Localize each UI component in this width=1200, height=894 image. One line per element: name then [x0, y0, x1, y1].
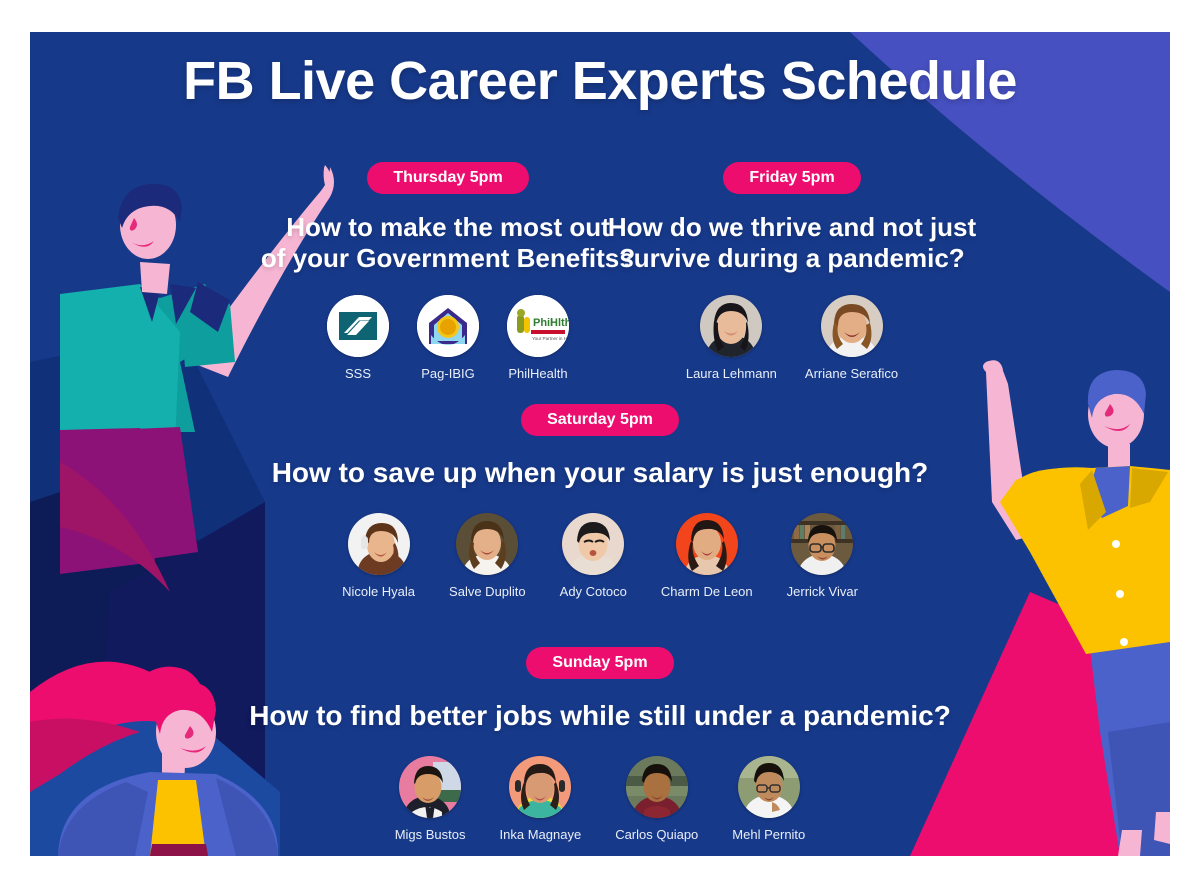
- heading-line-2: survive during a pandemic?: [592, 243, 992, 274]
- schedule-badge-friday[interactable]: Friday 5pm: [723, 162, 860, 194]
- avatar: [399, 756, 461, 818]
- list-item[interactable]: Inka Magnaye: [500, 756, 582, 842]
- speaker-list-saturday: Nicole Hyala Salve: [30, 513, 1170, 599]
- avatar: [348, 513, 410, 575]
- list-item[interactable]: Mehl Pernito: [732, 756, 805, 842]
- list-item-label: Pag-IBIG: [417, 366, 479, 381]
- list-item-label: Migs Bustos: [395, 827, 466, 842]
- avatar: [456, 513, 518, 575]
- list-item[interactable]: SSS: [327, 295, 389, 381]
- svg-text:Your Partner in Health: Your Partner in Health: [532, 336, 569, 341]
- list-item[interactable]: Charm De Leon: [661, 513, 753, 599]
- avatar: [821, 295, 883, 357]
- logo-list-thursday: SSS Pag-IBIG: [248, 295, 648, 381]
- badge-wrap: Thursday 5pm: [248, 162, 648, 194]
- avatar: [700, 295, 762, 357]
- avatar: [791, 513, 853, 575]
- badge-wrap: Sunday 5pm: [30, 647, 1170, 679]
- poster-content: FB Live Career Experts Schedule Thursday…: [30, 32, 1170, 856]
- list-item[interactable]: Salve Duplito: [449, 513, 526, 599]
- list-item[interactable]: Carlos Quiapo: [615, 756, 698, 842]
- list-item[interactable]: Laura Lehmann: [686, 295, 777, 381]
- page-title: FB Live Career Experts Schedule: [30, 50, 1170, 112]
- heading-line-2: of your Government Benefits?: [248, 243, 648, 274]
- schedule-badge-saturday[interactable]: Saturday 5pm: [521, 404, 679, 436]
- list-item[interactable]: Phil Hlth Your Partner in Health PhilHea…: [507, 295, 569, 381]
- poster-canvas: FB Live Career Experts Schedule Thursday…: [30, 32, 1170, 856]
- speaker-list-sunday: Migs Bustos: [30, 756, 1170, 842]
- avatar: [509, 756, 571, 818]
- section-heading-thursday: How to make the most out of your Governm…: [248, 212, 648, 273]
- list-item-label: Laura Lehmann: [686, 366, 777, 381]
- list-item-label: Carlos Quiapo: [615, 827, 698, 842]
- list-item[interactable]: Nicole Hyala: [342, 513, 415, 599]
- list-item[interactable]: Jerrick Vivar: [787, 513, 858, 599]
- section-heading-sunday: How to find better jobs while still unde…: [30, 699, 1170, 732]
- section-heading-friday: How do we thrive and not just survive du…: [592, 212, 992, 273]
- badge-wrap: Saturday 5pm: [30, 404, 1170, 436]
- list-item-label: Jerrick Vivar: [787, 584, 858, 599]
- section-heading-saturday: How to save up when your salary is just …: [30, 456, 1170, 489]
- philhealth-logo-icon: Phil Hlth Your Partner in Health: [507, 295, 569, 357]
- list-item[interactable]: Arriane Serafico: [805, 295, 898, 381]
- avatar: [562, 513, 624, 575]
- svg-text:Hlth: Hlth: [550, 317, 569, 329]
- list-item-label: Salve Duplito: [449, 584, 526, 599]
- schedule-badge-sunday[interactable]: Sunday 5pm: [526, 647, 673, 679]
- list-item[interactable]: Migs Bustos: [395, 756, 466, 842]
- list-item-label: Nicole Hyala: [342, 584, 415, 599]
- list-item-label: PhilHealth: [507, 366, 569, 381]
- section-sunday: Sunday 5pm How to find better jobs while…: [30, 647, 1170, 842]
- list-item[interactable]: Ady Cotoco: [560, 513, 627, 599]
- list-item-label: Inka Magnaye: [500, 827, 582, 842]
- list-item-label: SSS: [327, 366, 389, 381]
- list-item-label: Mehl Pernito: [732, 827, 805, 842]
- list-item-label: Charm De Leon: [661, 584, 753, 599]
- list-item-label: Arriane Serafico: [805, 366, 898, 381]
- sss-logo-icon: [327, 295, 389, 357]
- avatar: [676, 513, 738, 575]
- speaker-list-friday: Laura Lehmann Arri: [592, 295, 992, 381]
- section-saturday: Saturday 5pm How to save up when your sa…: [30, 404, 1170, 599]
- section-thursday: Thursday 5pm How to make the most out of…: [248, 162, 648, 381]
- list-item[interactable]: Pag-IBIG: [417, 295, 479, 381]
- schedule-badge-thursday[interactable]: Thursday 5pm: [367, 162, 528, 194]
- avatar: [626, 756, 688, 818]
- avatar: [738, 756, 800, 818]
- section-friday: Friday 5pm How do we thrive and not just…: [592, 162, 992, 381]
- heading-line-1: How do we thrive and not just: [592, 212, 992, 243]
- badge-wrap: Friday 5pm: [592, 162, 992, 194]
- pagibig-logo-icon: [417, 295, 479, 357]
- heading-line-1: How to make the most out: [248, 212, 648, 243]
- list-item-label: Ady Cotoco: [560, 584, 627, 599]
